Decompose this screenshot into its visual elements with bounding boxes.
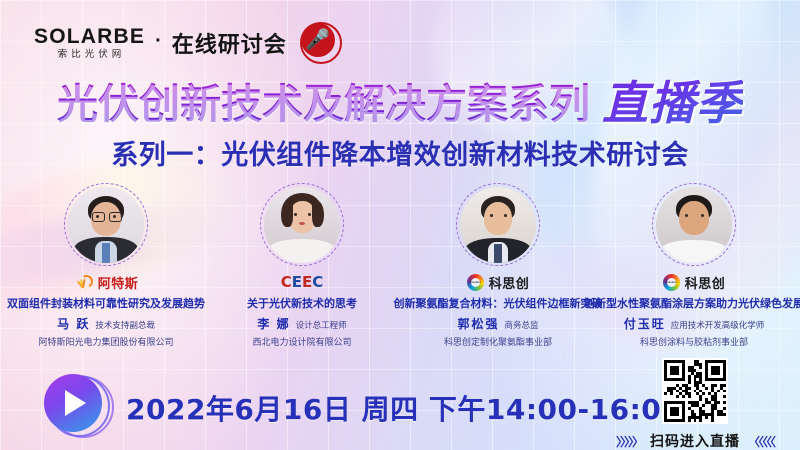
speaker-card: CEEC 关于光伏新技术的思考 李 娜 设计总工程师 西北电力设计院有限公司 [204, 183, 400, 348]
covestro-wordmark: covestro [469, 281, 481, 284]
microphone-icon: 🎤 [300, 22, 342, 64]
avatar [260, 183, 344, 266]
speaker-org: 科思创定制化聚氨酯事业部 [444, 335, 552, 348]
speaker-topic: 关于光伏新技术的思考 [247, 297, 357, 311]
speaker-role: 技术支持副总裁 [95, 319, 155, 331]
avatar [64, 183, 148, 266]
speaker-role: 设计总工程师 [296, 319, 347, 331]
speaker-org: 西北电力设计院有限公司 [252, 335, 351, 348]
webinar-label: 在线研讨会 [172, 27, 287, 59]
arrows-left: 〉〉〉〉〉 [616, 433, 642, 450]
speaker-org: 阿特斯阳光电力集团股份有限公司 [38, 335, 173, 348]
play-button-icon[interactable] [44, 374, 106, 436]
page-title: 光伏创新技术及解决方案系列 [57, 70, 590, 130]
speaker-role: 商务总监 [505, 319, 539, 331]
covestro-logo: covestro 科思创 [663, 272, 726, 292]
speaker-identity: 马 跃 技术支持副总裁 [57, 315, 155, 332]
speaker-name: 李 娜 [257, 315, 290, 332]
solarbe-logo-en: SOLARBE [34, 26, 145, 47]
canadian-solar-logo: 阿特斯 [74, 272, 139, 292]
avatar [456, 183, 540, 266]
qr-caption: 扫码进入直播 [650, 431, 740, 450]
solarbe-logo-cn: 索比光伏网 [54, 50, 126, 60]
event-datetime: 2022年6月16日 周四 下午14:00-16:00 [126, 388, 681, 428]
speaker-name: 付玉旺 [624, 315, 666, 332]
avatar [652, 183, 736, 266]
speaker-topic: 创新聚氨酯复合材料：光伏组件边框新突破 [394, 297, 603, 311]
speaker-name: 郭松强 [457, 315, 499, 332]
qr-block: 〉〉〉〉〉 扫码进入直播 〈〈〈〈〈 [610, 358, 780, 450]
covestro-wordmark: covestro [665, 281, 677, 284]
webinar-poster: SOLARBE 索比光伏网 · 在线研讨会 🎤 光伏创新技术及解决方案系列 直播… [0, 0, 800, 450]
speaker-org: 科思创涂料与胶粘剂事业部 [640, 335, 748, 348]
solarbe-logo: SOLARBE 索比光伏网 [34, 26, 145, 60]
speaker-role: 应用技术开发高级化学师 [671, 319, 765, 331]
speaker-logo-text: 阿特斯 [98, 273, 139, 292]
speaker-identity: 付玉旺 应用技术开发高级化学师 [624, 315, 765, 332]
ceec-logo: CEEC [281, 272, 324, 292]
qr-code[interactable] [662, 358, 728, 424]
speaker-card: covestro 科思创 创新型水性聚氨酯涂层方案助力光伏绿色发展 付玉旺 应用… [596, 183, 792, 348]
title-row: 光伏创新技术及解决方案系列 直播季 [0, 72, 800, 128]
arrows-right: 〈〈〈〈〈 [748, 433, 774, 450]
speaker-topic: 双面组件封装材料可靠性研究及发展趋势 [7, 297, 205, 311]
speaker-identity: 郭松强 商务总监 [457, 315, 538, 332]
speaker-topic: 创新型水性聚氨酯涂层方案助力光伏绿色发展 [584, 297, 800, 311]
speaker-card: covestro 科思创 创新聚氨酯复合材料：光伏组件边框新突破 郭松强 商务总… [400, 183, 596, 348]
speaker-identity: 李 娜 设计总工程师 [257, 315, 346, 332]
speaker-card: 阿特斯 双面组件封装材料可靠性研究及发展趋势 马 跃 技术支持副总裁 阿特斯阳光… [8, 183, 204, 348]
speaker-logo-text: 科思创 [489, 273, 530, 292]
title-accent: 直播季 [602, 67, 743, 133]
brand-header: SOLARBE 索比光伏网 · 在线研讨会 🎤 [34, 20, 342, 66]
covestro-logo: covestro 科思创 [467, 272, 530, 292]
separator-dot: · [155, 30, 162, 53]
speaker-logo-text: 科思创 [685, 273, 726, 292]
speaker-name: 马 跃 [57, 315, 90, 332]
page-subtitle: 系列一：光伏组件降本增效创新材料技术研讨会 [0, 133, 800, 172]
speaker-list: 阿特斯 双面组件封装材料可靠性研究及发展趋势 马 跃 技术支持副总裁 阿特斯阳光… [0, 183, 800, 348]
